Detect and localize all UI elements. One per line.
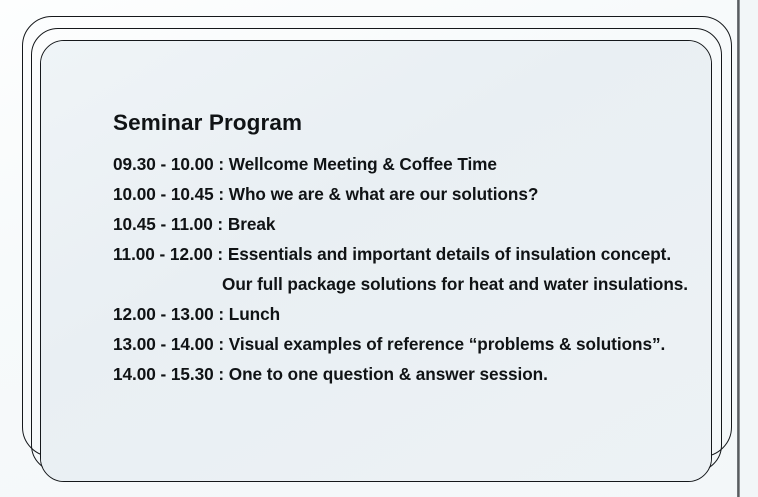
agenda-row: 09.30 - 10.00 : Wellcome Meeting & Coffe… (113, 149, 698, 179)
agenda-description: Wellcome Meeting & Coffee Time (229, 154, 497, 174)
agenda-time: 11.00 - 12.00 (113, 244, 213, 264)
agenda-row: 11.00 - 12.00 : Essentials and important… (113, 239, 698, 269)
agenda-row: 10.45 - 11.00 : Break (113, 209, 698, 239)
agenda-separator: : (214, 304, 229, 324)
agenda-time: 10.45 - 11.00 (113, 214, 213, 234)
agenda-description: Lunch (229, 304, 280, 324)
agenda-separator: : (213, 244, 228, 264)
agenda-time: 09.30 - 10.00 (113, 154, 214, 174)
agenda-list: 09.30 - 10.00 : Wellcome Meeting & Coffe… (113, 149, 698, 389)
agenda-row: 10.00 - 10.45 : Who we are & what are ou… (113, 179, 698, 209)
agenda-separator: : (214, 154, 229, 174)
agenda-description: Visual examples of reference “problems &… (229, 334, 665, 354)
agenda-time: 12.00 - 13.00 (113, 304, 214, 324)
agenda-row: 14.00 - 15.30 : One to one question & an… (113, 359, 698, 389)
photo-outer-margin (740, 0, 758, 497)
agenda-separator: : (213, 214, 228, 234)
agenda-description: Essentials and important details of insu… (228, 244, 671, 264)
agenda-separator: : (214, 334, 229, 354)
seminar-program-photo: Seminar Program 09.30 - 10.00 : Wellcome… (0, 0, 758, 497)
agenda-time: 13.00 - 14.00 (113, 334, 214, 354)
agenda-description: Break (228, 214, 276, 234)
program-content: Seminar Program 09.30 - 10.00 : Wellcome… (113, 112, 698, 389)
agenda-time: 14.00 - 15.30 (113, 364, 214, 384)
page-title: Seminar Program (113, 112, 698, 135)
agenda-separator: : (214, 184, 229, 204)
agenda-description: One to one question & answer session. (229, 364, 548, 384)
agenda-separator: : (214, 364, 229, 384)
photo-edge-line (737, 0, 740, 497)
agenda-description: Our full package solutions for heat and … (222, 274, 688, 294)
agenda-row: Our full package solutions for heat and … (113, 269, 698, 299)
agenda-time: 10.00 - 10.45 (113, 184, 214, 204)
agenda-description: Who we are & what are our solutions? (229, 184, 539, 204)
agenda-row: 13.00 - 14.00 : Visual examples of refer… (113, 329, 698, 359)
agenda-row: 12.00 - 13.00 : Lunch (113, 299, 698, 329)
